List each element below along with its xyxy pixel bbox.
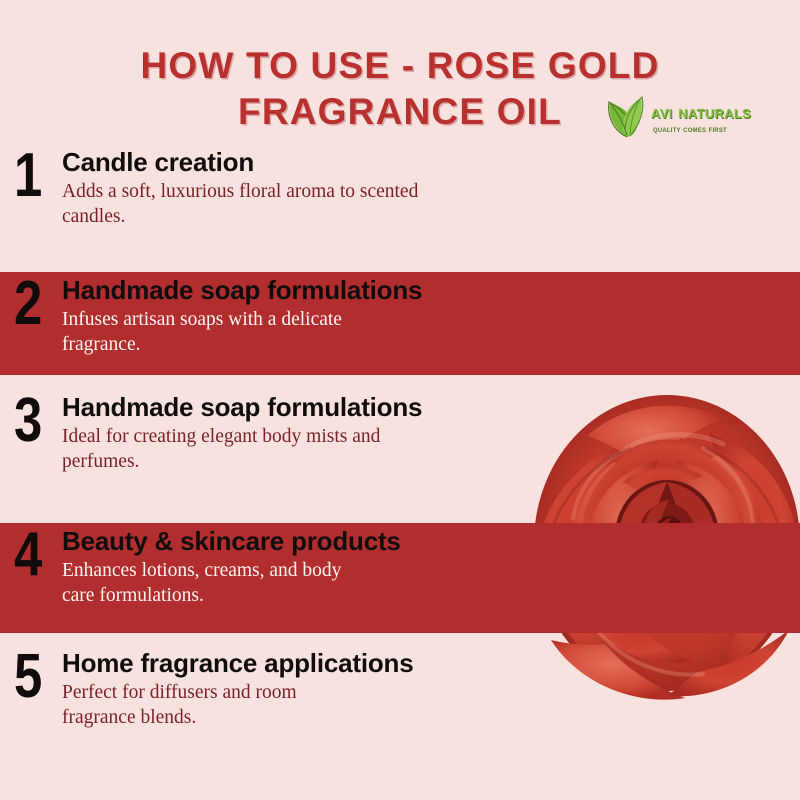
step-item-2: 2 Handmade soap formulations Infuses art… — [0, 272, 800, 375]
step-item-3: 3 Handmade soap formulations Ideal for c… — [0, 385, 800, 523]
step-description-1: Adds a soft, luxurious floral aroma to s… — [62, 179, 562, 229]
step-item-5: 5 Home fragrance applications Perfect fo… — [0, 641, 800, 776]
step-number-5: 5 — [14, 647, 53, 707]
infographic-canvas: How To Use - Rose Gold Fragrance Oil Avi… — [0, 0, 800, 800]
leaf-icon — [604, 90, 650, 140]
brand-logo[interactable]: Avi Naturals Quality Comes First — [604, 88, 780, 142]
step-description-4: Enhances lotions, creams, and body care … — [62, 558, 532, 608]
step-title-1: Candle creation — [62, 148, 562, 177]
header: How To Use - Rose Gold Fragrance Oil Avi… — [0, 0, 800, 150]
step-number-3: 3 — [14, 391, 53, 451]
step-number-1: 1 — [14, 146, 53, 206]
step-title-3: Handmade soap formulations — [62, 393, 532, 422]
step-title-4: Beauty & skincare products — [62, 527, 532, 556]
step-description-5: Perfect for diffusers and room fragrance… — [62, 680, 532, 730]
step-description-3: Ideal for creating elegant body mists an… — [62, 424, 532, 474]
step-number-2: 2 — [14, 274, 53, 334]
logo-tagline: Quality Comes First — [653, 124, 751, 136]
step-title-2: Handmade soap formulations — [62, 276, 562, 305]
logo-brand-name: Avi Naturals — [651, 103, 751, 122]
step-title-5: Home fragrance applications — [62, 649, 532, 678]
step-description-2: Infuses artisan soaps with a delicate fr… — [62, 307, 562, 357]
step-item-4: 4 Beauty & skincare products Enhances lo… — [0, 523, 800, 633]
step-number-4: 4 — [14, 525, 53, 585]
step-item-1: 1 Candle creation Adds a soft, luxurious… — [0, 140, 800, 272]
